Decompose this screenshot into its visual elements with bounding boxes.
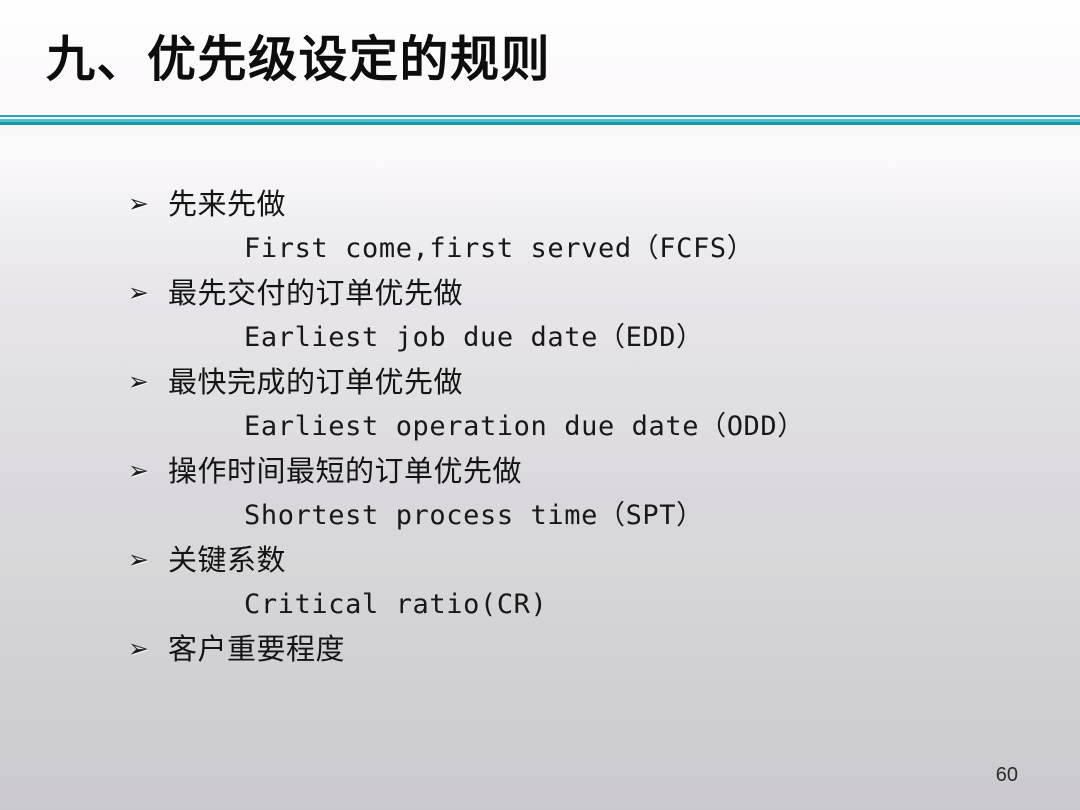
list-item-sub: Shortest process time（SPT） [0,493,1080,538]
divider-line-bottom [0,122,1080,125]
bullet-group: ➢ 最先交付的订单优先做 Earliest job due date（EDD） [0,271,1080,360]
arrow-bullet-icon: ➢ [128,280,158,305]
arrow-bullet-icon: ➢ [128,191,158,216]
bullet-group: ➢ 先来先做 First come,first served（FCFS） [0,182,1080,271]
arrow-bullet-icon: ➢ [128,636,158,661]
list-item: ➢ 操作时间最短的订单优先做 [0,449,1080,493]
list-item-sub: Earliest job due date（EDD） [0,315,1080,360]
bullet-sub-text: Shortest process time（SPT） [244,500,704,532]
list-item-sub: First come,first served（FCFS） [0,226,1080,271]
slide-footer: 60 [0,750,1080,810]
bullet-sub-text: Critical ratio(CR) [244,589,547,621]
title-divider [0,115,1080,126]
bullet-label: 先来先做 [168,187,286,221]
list-item: ➢ 最快完成的订单优先做 [0,360,1080,404]
page-title: 九、优先级设定的规则 [46,30,551,90]
bullet-group: ➢ 最快完成的订单优先做 Earliest operation due date… [0,360,1080,449]
bullet-label: 最先交付的订单优先做 [168,276,463,310]
list-item: ➢ 最先交付的订单优先做 [0,271,1080,315]
bullet-group: ➢ 操作时间最短的订单优先做 Shortest process time（SPT… [0,449,1080,538]
list-item: ➢ 客户重要程度 [0,627,1080,671]
list-item: ➢ 关键系数 [0,538,1080,582]
arrow-bullet-icon: ➢ [128,547,158,572]
page-number: 60 [996,764,1018,787]
bullet-label: 最快完成的订单优先做 [168,365,463,399]
slide-title-block: 九、优先级设定的规则 [0,0,1080,118]
bullet-label: 关键系数 [168,543,286,577]
bullet-sub-text: Earliest operation due date（ODD） [244,411,805,443]
bullet-list: ➢ 先来先做 First come,first served（FCFS） ➢ 最… [0,182,1080,671]
bullet-group: ➢ 客户重要程度 [0,627,1080,671]
list-item: ➢ 先来先做 [0,182,1080,226]
bullet-sub-text: First come,first served（FCFS） [244,233,754,265]
slide-canvas: 九、优先级设定的规则 ➢ 先来先做 First come,first serve… [0,0,1080,810]
arrow-bullet-icon: ➢ [128,458,158,483]
bullet-label: 操作时间最短的订单优先做 [168,454,522,488]
list-item-sub: Earliest operation due date（ODD） [0,404,1080,449]
list-item-sub: Critical ratio(CR) [0,582,1080,627]
bullet-label: 客户重要程度 [168,632,345,666]
bullet-group: ➢ 关键系数 Critical ratio(CR) [0,538,1080,627]
arrow-bullet-icon: ➢ [128,369,158,394]
bullet-sub-text: Earliest job due date（EDD） [244,322,704,354]
